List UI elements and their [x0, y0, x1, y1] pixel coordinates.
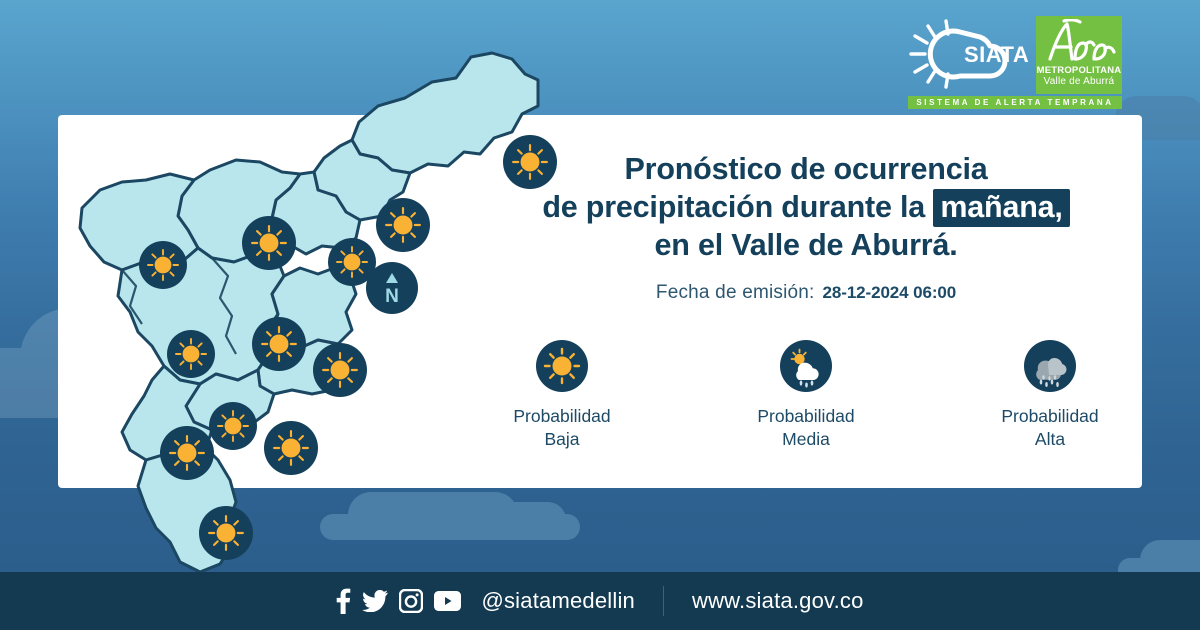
- social-icons: [336, 588, 461, 614]
- emission-value: 28-12-2024 06:00: [823, 283, 957, 303]
- page-title: Pronóstico de ocurrencia de precipitació…: [470, 150, 1142, 264]
- probability-legend: Probabilidad Baja: [470, 340, 1142, 451]
- area-line2: Valle de Aburrá: [1036, 76, 1122, 87]
- title-line-1: Pronóstico de ocurrencia: [470, 150, 1142, 188]
- map-municipalities: [60, 40, 540, 580]
- social-handle[interactable]: @siatamedellin: [481, 588, 635, 614]
- map-marker-sun-7[interactable]: [167, 330, 215, 378]
- legend-item-baja[interactable]: Probabilidad Baja: [482, 340, 642, 451]
- instagram-icon[interactable]: [399, 589, 423, 613]
- title-line-3: en el Valle de Aburrá.: [470, 226, 1142, 264]
- legend-label-alta-line1: Probabilidad: [1001, 405, 1098, 428]
- map-marker-sun-6[interactable]: [252, 317, 306, 371]
- youtube-icon[interactable]: [434, 591, 461, 611]
- siata-logo: SIATA: [902, 16, 1030, 94]
- footer-divider: [663, 586, 664, 616]
- emission-date: Fecha de emisión: 28-12-2024 06:00: [470, 282, 1142, 304]
- area-subtitle: METROPOLITANA Valle de Aburrá: [1036, 65, 1122, 87]
- emission-label: Fecha de emisión:: [656, 282, 815, 304]
- title-line-2: de precipitación durante la mañana,: [470, 188, 1142, 226]
- area-script-wordmark: [1042, 19, 1116, 65]
- forecast-content: Pronóstico de ocurrencia de precipitació…: [470, 150, 1142, 451]
- footer-bar: @siatamedellin www.siata.gov.co: [0, 572, 1200, 630]
- tagline-banner: SISTEMA DE ALERTA TEMPRANA: [908, 96, 1122, 109]
- title-highlight-manana: mañana,: [933, 189, 1069, 227]
- twitter-icon[interactable]: [362, 590, 388, 612]
- compass-icon: N: [366, 262, 418, 314]
- map-marker-sun-10[interactable]: [264, 421, 318, 475]
- map-marker-sun-11[interactable]: [160, 426, 214, 480]
- area-metropolitana-logo: METROPOLITANA Valle de Aburrá: [1036, 16, 1122, 94]
- logo-group: SIATA METROPOLITANA Valle de Aburrá: [902, 16, 1122, 94]
- facebook-icon[interactable]: [336, 588, 351, 614]
- area-line1: METROPOLITANA: [1036, 65, 1122, 76]
- valle-de-aburra-map: N: [60, 40, 540, 580]
- legend-label-baja-line1: Probabilidad: [513, 405, 610, 428]
- legend-label-baja-line2: Baja: [513, 428, 610, 451]
- map-marker-sun-9[interactable]: [209, 402, 257, 450]
- legend-label-baja: Probabilidad Baja: [513, 405, 610, 451]
- legend-item-alta[interactable]: Probabilidad Alta: [970, 340, 1130, 451]
- sun-cloud-rain-icon: [780, 340, 832, 392]
- map-marker-sun-4[interactable]: [242, 216, 296, 270]
- siata-sun-cloud-icon: SIATA: [902, 16, 1030, 94]
- website-url[interactable]: www.siata.gov.co: [692, 588, 864, 614]
- legend-label-media-line1: Probabilidad: [757, 405, 854, 428]
- compass-label: N: [385, 286, 399, 307]
- map-marker-sun-8[interactable]: [313, 343, 367, 397]
- map-marker-sun-2[interactable]: [376, 198, 430, 252]
- legend-label-media: Probabilidad Media: [757, 405, 854, 451]
- cloud-rain-icon: [1024, 340, 1076, 392]
- infographic-canvas: SIATA METROPOLITANA Valle de Aburrá: [0, 0, 1200, 630]
- sun-icon: [536, 340, 588, 392]
- siata-wordmark: SIATA: [964, 42, 1029, 67]
- title-line-2-text: de precipitación durante la: [542, 190, 925, 224]
- legend-label-alta: Probabilidad Alta: [1001, 405, 1098, 451]
- legend-label-alta-line2: Alta: [1001, 428, 1098, 451]
- map-marker-sun-5[interactable]: [139, 241, 187, 289]
- compass-north-indicator: N: [366, 262, 418, 314]
- map-marker-sun-12[interactable]: [199, 506, 253, 560]
- legend-item-media[interactable]: Probabilidad Media: [726, 340, 886, 451]
- legend-label-media-line2: Media: [757, 428, 854, 451]
